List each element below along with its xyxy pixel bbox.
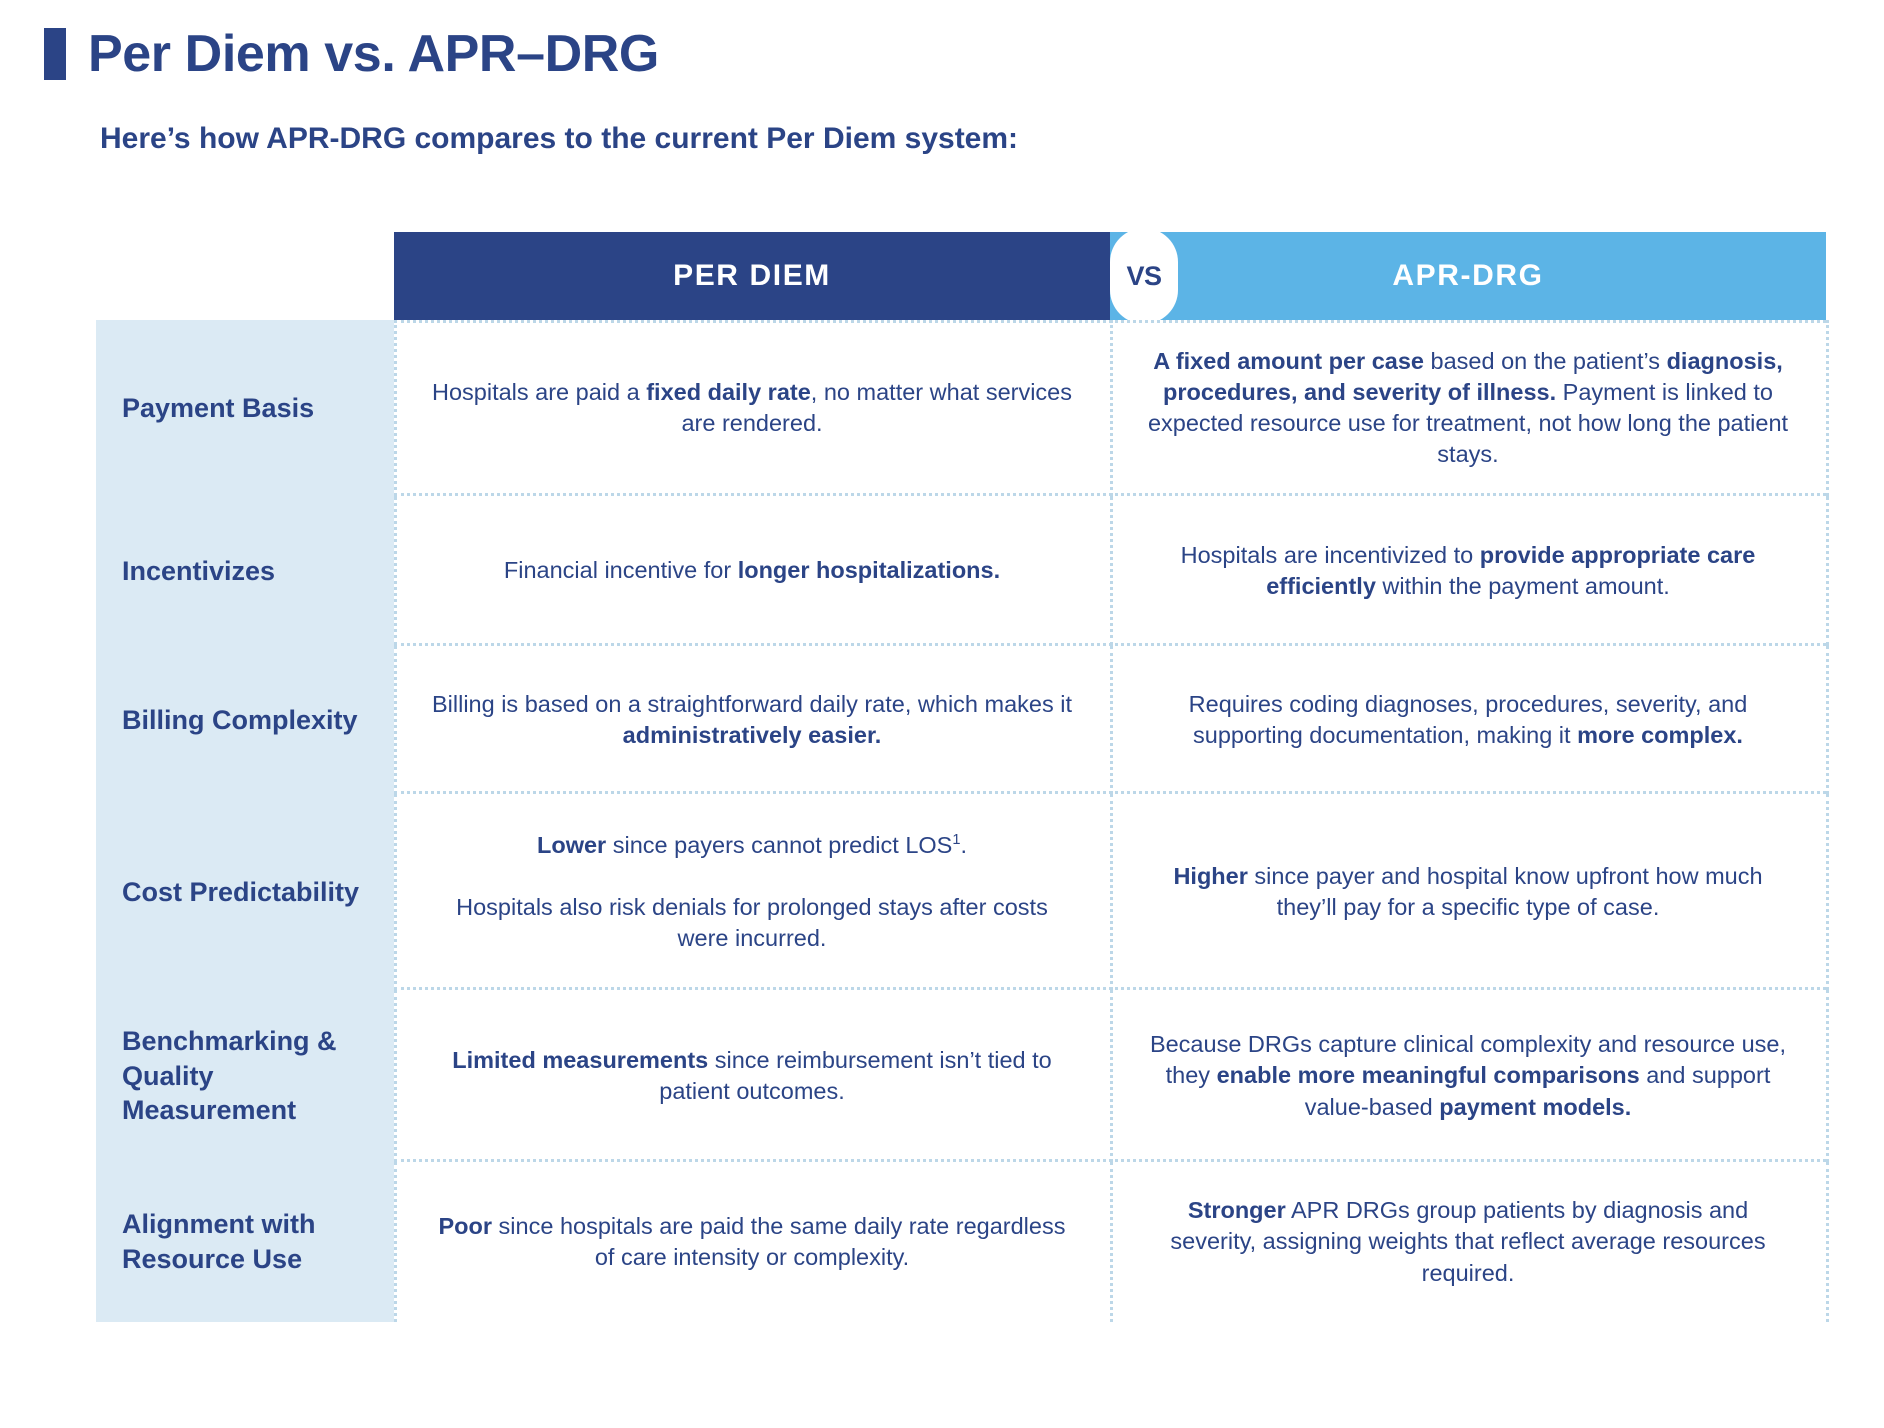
cell-per-diem: Poor since hospitals are paid the same d… [394, 1162, 1110, 1322]
row-label: Billing Complexity [96, 646, 394, 794]
column-divider [394, 496, 397, 646]
cell-per-diem: Financial incentive for longer hospitali… [394, 496, 1110, 646]
row-label: Payment Basis [96, 320, 394, 496]
table-row: Billing ComplexityBilling is based on a … [96, 646, 1826, 794]
column-divider [1110, 990, 1113, 1162]
column-divider [394, 1162, 397, 1322]
column-divider [1826, 646, 1829, 794]
row-label: Incentivizes [96, 496, 394, 646]
infographic-page: Per Diem vs. APR–DRG Here’s how APR-DRG … [0, 0, 1884, 1428]
column-divider [1110, 1162, 1113, 1322]
column-divider [1826, 1162, 1829, 1322]
title-block: Per Diem vs. APR–DRG [44, 28, 659, 80]
header-corner-cell [96, 232, 394, 320]
cell-per-diem: Hospitals are paid a fixed daily rate, n… [394, 320, 1110, 496]
table-body: Payment BasisHospitals are paid a fixed … [96, 320, 1826, 1322]
table-row: IncentivizesFinancial incentive for long… [96, 496, 1826, 646]
table-row: Payment BasisHospitals are paid a fixed … [96, 320, 1826, 496]
page-subtitle: Here’s how APR-DRG compares to the curre… [100, 122, 1018, 156]
column-divider [1826, 320, 1829, 496]
row-label: Alignment with Resource Use [96, 1162, 394, 1322]
page-title: Per Diem vs. APR–DRG [88, 28, 659, 80]
cell-per-diem: Lower since payers cannot predict LOS1.H… [394, 794, 1110, 990]
row-label: Benchmarking & Quality Measurement [96, 990, 394, 1162]
cell-per-diem: Billing is based on a straightforward da… [394, 646, 1110, 794]
comparison-table: PER DIEM APR-DRG VS Payment BasisHospita… [96, 232, 1826, 1322]
cell-apr-drg: A fixed amount per case based on the pat… [1110, 320, 1826, 496]
table-header-row: PER DIEM APR-DRG VS [96, 232, 1826, 320]
column-divider [394, 990, 397, 1162]
row-label: Cost Predictability [96, 794, 394, 990]
header-bottom-rule [394, 320, 1826, 323]
table-row: Cost PredictabilityLower since payers ca… [96, 794, 1826, 990]
cell-per-diem: Limited measurements since reimbursement… [394, 990, 1110, 1162]
column-header-apr-drg: APR-DRG [1110, 232, 1826, 320]
column-divider [1826, 496, 1829, 646]
column-divider [394, 794, 397, 990]
column-divider [1110, 320, 1113, 496]
cell-apr-drg: Stronger APR DRGs group patients by diag… [1110, 1162, 1826, 1322]
table-row: Benchmarking & Quality MeasurementLimite… [96, 990, 1826, 1162]
vs-badge-label: VS [1110, 242, 1178, 310]
cell-apr-drg: Higher since payer and hospital know upf… [1110, 794, 1826, 990]
vs-badge: VS [1110, 228, 1178, 324]
column-divider [1110, 794, 1113, 990]
cell-apr-drg: Requires coding diagnoses, procedures, s… [1110, 646, 1826, 794]
column-divider [1110, 646, 1113, 794]
column-divider [1110, 496, 1113, 646]
cell-apr-drg: Hospitals are incentivized to provide ap… [1110, 496, 1826, 646]
column-divider [1826, 990, 1829, 1162]
column-header-per-diem: PER DIEM [394, 232, 1110, 320]
column-divider [1826, 794, 1829, 990]
column-divider [394, 320, 397, 496]
title-accent-bar [44, 28, 66, 80]
table-row: Alignment with Resource UsePoor since ho… [96, 1162, 1826, 1322]
column-divider [394, 646, 397, 794]
cell-apr-drg: Because DRGs capture clinical complexity… [1110, 990, 1826, 1162]
